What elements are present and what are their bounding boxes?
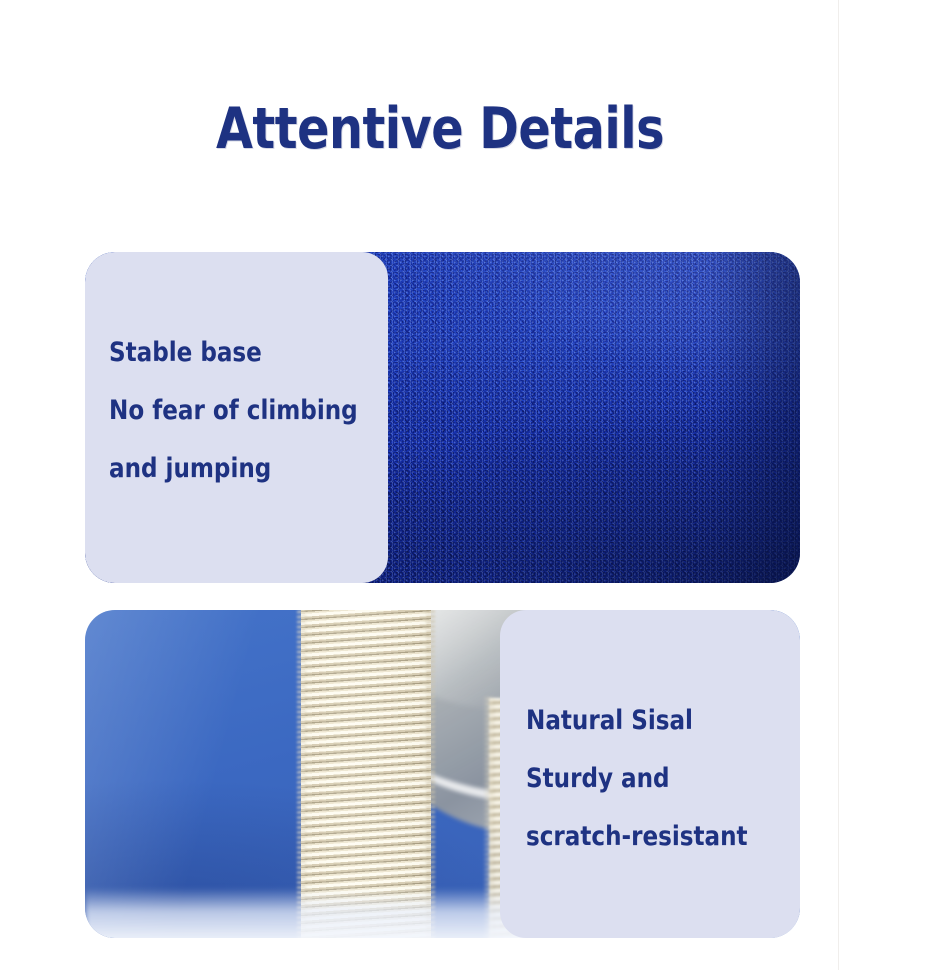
product-detail-page: Attentive Details Stable base No fear of… [0, 0, 943, 970]
stable-base-text-panel: Stable base No fear of climbing and jump… [85, 252, 388, 583]
stable-base-line-3: and jumping [109, 454, 374, 484]
natural-sisal-text-panel: Natural Sisal Sturdy and scratch-resista… [500, 610, 800, 938]
stable-base-line-2: No fear of climbing [109, 396, 374, 426]
natural-sisal-line-1: Natural Sisal [526, 706, 786, 736]
natural-sisal-line-2: Sturdy and [526, 764, 786, 794]
stable-base-line-1: Stable base [109, 338, 374, 368]
page-title: Attentive Details [31, 96, 849, 162]
natural-sisal-line-3: scratch-resistant [526, 822, 786, 852]
feature-card-natural-sisal: Natural Sisal Sturdy and scratch-resista… [85, 610, 800, 938]
feature-card-stable-base: Stable base No fear of climbing and jump… [85, 252, 800, 583]
carpet-board-edge [708, 252, 800, 583]
